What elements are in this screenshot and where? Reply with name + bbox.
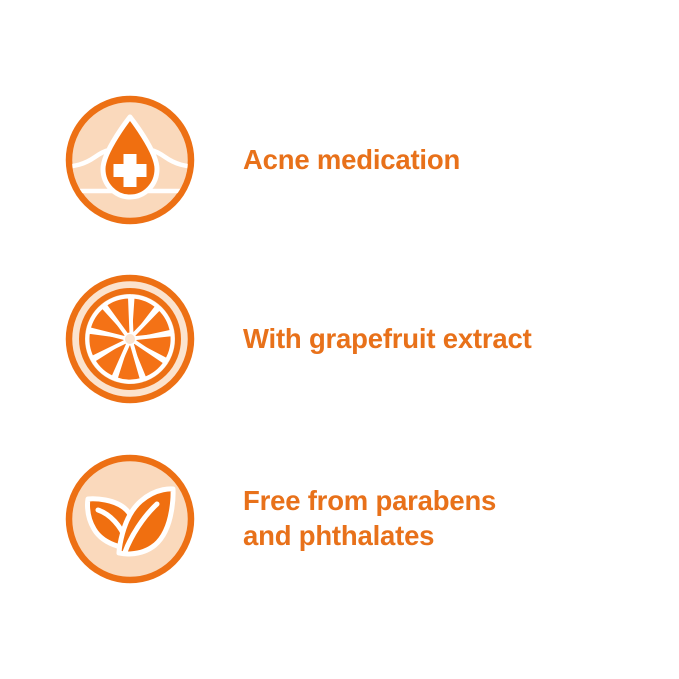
- feature-label: Acne medication: [243, 143, 460, 178]
- feature-row: Acne medication: [0, 80, 679, 240]
- feature-label: Free from parabens and phthalates: [243, 484, 496, 553]
- grapefruit-slice-icon: [65, 274, 195, 404]
- leaves-icon: [65, 454, 195, 584]
- feature-label: With grapefruit extract: [243, 322, 532, 357]
- feature-row: Free from parabens and phthalates: [0, 439, 679, 599]
- feature-row: With grapefruit extract: [0, 259, 679, 419]
- droplet-cross-icon: [65, 95, 195, 225]
- feature-list: Acne medication: [0, 0, 679, 679]
